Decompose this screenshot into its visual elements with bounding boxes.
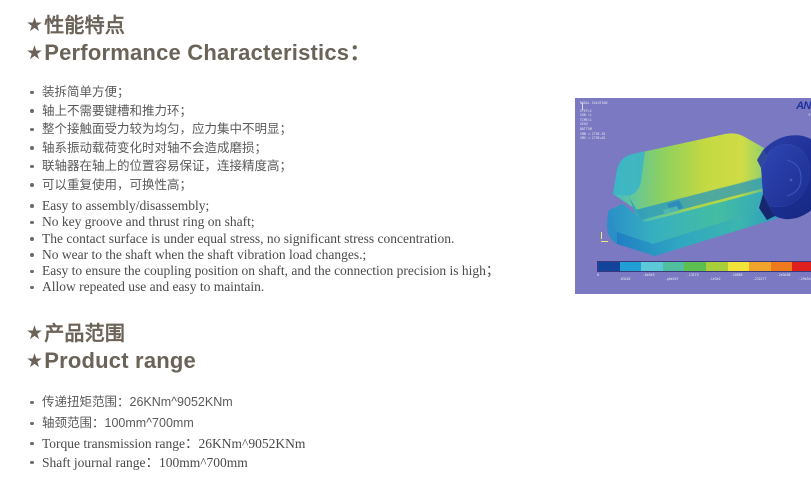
legend-label: .03182 — [619, 277, 631, 281]
star-icon: ★ — [26, 352, 43, 371]
product-range-heading-en: ★Product range — [26, 347, 196, 375]
legend-swatch — [706, 262, 728, 271]
fea-run-date: FEB 18 2009 — [796, 113, 811, 118]
legend-swatch — [641, 262, 663, 271]
list-item: 装拆简单方便； — [30, 83, 292, 102]
list-item: 联轴器在轴上的位置容易保证，连接精度高； — [30, 157, 292, 176]
list-item: 轴上不需要键槽和推力环； — [30, 102, 292, 121]
list-item: 整个接触面受力较为均匀，应力集中不明显； — [30, 120, 292, 139]
corner-tick-icon — [582, 103, 583, 110]
product-range-bullets-en: Torque transmission range：26KNm^9052KNm … — [30, 434, 305, 472]
product-range-heading-cn-text: 产品范围 — [44, 323, 125, 345]
ansys-logo-part-a: AN — [796, 100, 811, 112]
fea-run-time: 09:08:44 — [796, 119, 811, 124]
product-range-heading-en-text: Product range — [44, 348, 196, 373]
list-item: Easy to assembly/disassembly; — [30, 198, 499, 214]
legend-swatch — [663, 262, 685, 271]
list-item: 可以重复使用，可换性高； — [30, 176, 292, 195]
list-item: The contact surface is under equal stres… — [30, 231, 499, 247]
performance-bullets-cn: 装拆简单方便； 轴上不需要键槽和推力环； 整个接触面受力较为均匀，应力集中不明显… — [30, 83, 292, 195]
performance-heading-cn: ★性能特点 — [26, 14, 371, 39]
legend-swatch — [684, 262, 706, 271]
star-icon: ★ — [26, 44, 43, 63]
fea-header-line: SMX =.279E+02 — [580, 136, 607, 141]
product-range-bullets-cn: 传递扭矩范围：26KNm^9052KNm 轴颈范围：100mm^700mm — [30, 392, 233, 434]
performance-heading-en: ★Performance Characteristics： — [26, 39, 371, 67]
list-item: Allow repeated use and easy to maintain. — [30, 279, 499, 295]
fea-legend-labels: 0 .8e3e3 .13173 .18985 .2e3e30 .03182 .g… — [595, 273, 811, 281]
star-icon: ★ — [26, 324, 43, 343]
legend-swatch — [728, 262, 750, 271]
legend-swatch — [598, 262, 620, 271]
fea-header-text: NODAL SOLUTION STEP=1 SUB =1 TIME=1 SEQV… — [580, 101, 607, 141]
ansys-logo: ANSYS FEB 18 2009 09:08:44 — [796, 101, 811, 124]
legend-label: .18985 — [731, 273, 743, 277]
fea-color-legend — [597, 261, 811, 272]
performance-bullets-en: Easy to assembly/disassembly; No key gro… — [30, 198, 499, 296]
performance-heading-en-text: Performance Characteristics： — [44, 40, 371, 65]
legend-label: .1e3e2 — [709, 277, 721, 281]
list-item: No wear to the shaft when the shaft vibr… — [30, 247, 499, 263]
legend-label: .13173 — [687, 273, 699, 277]
list-item: Shaft journal range：100mm^700mm — [30, 453, 305, 472]
legend-swatch — [749, 262, 771, 271]
legend-label: .29e3e1 — [799, 277, 811, 281]
axis-triad-icon — [601, 232, 611, 242]
list-item: Easy to ensure the coupling position on … — [30, 263, 499, 279]
fea-simulation-image: NODAL SOLUTION STEP=1 SUB =1 TIME=1 SEQV… — [575, 98, 811, 294]
fea-header-line: NODAL SOLUTION — [580, 101, 607, 106]
legend-label: .8e3e3 — [643, 273, 655, 277]
legend-label: .232277 — [753, 277, 766, 281]
list-item: 轴系振动载荷变化时对轴不会造成磨损； — [30, 139, 292, 158]
legend-label: .g0e347 — [665, 277, 678, 281]
legend-swatch — [771, 262, 793, 271]
list-item: 传递扭矩范围：26KNm^9052KNm — [30, 392, 233, 413]
legend-label: 0 — [597, 273, 599, 277]
list-item: Torque transmission range：26KNm^9052KNm — [30, 434, 305, 453]
list-item: 轴颈范围：100mm^700mm — [30, 413, 233, 434]
list-item: No key groove and thrust ring on shaft; — [30, 214, 499, 230]
product-range-heading-cn: ★产品范围 — [26, 322, 196, 347]
legend-swatch — [792, 262, 811, 271]
ansys-wordmark: ANSYS — [796, 101, 811, 112]
legend-swatch — [620, 262, 642, 271]
star-icon: ★ — [26, 16, 43, 35]
performance-heading-cn-text: 性能特点 — [44, 15, 125, 37]
performance-heading-block: ★性能特点 ★Performance Characteristics： — [26, 14, 371, 67]
brochure-page: ★性能特点 ★Performance Characteristics： 装拆简单… — [0, 0, 811, 477]
product-range-heading-block: ★产品范围 ★Product range — [26, 322, 196, 375]
legend-label: .2e3e30 — [777, 273, 790, 277]
